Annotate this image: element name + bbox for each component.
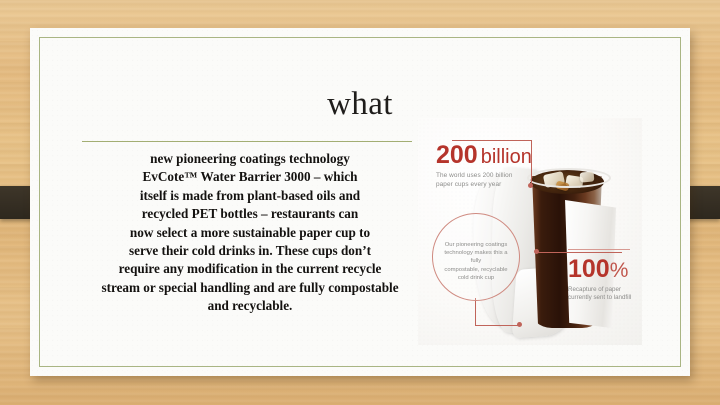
- leader-line-200-vertical: [531, 140, 532, 186]
- leader-dot-callout: [517, 322, 522, 327]
- leader-dot-100: [534, 249, 539, 254]
- stat-100-description: Recapture of paper currently sent to lan…: [568, 286, 631, 303]
- stat-100-percent: 100% Recapture of paper currently sent t…: [568, 257, 631, 303]
- stat-200-unit: billion: [481, 147, 532, 167]
- body-divider-rule: [82, 141, 412, 142]
- body-paragraph: new pioneering coatings technology EvCot…: [70, 150, 430, 316]
- cup-rim: [527, 168, 611, 188]
- stat-100-unit: %: [610, 260, 629, 281]
- slide-root: what new pioneering coatings technology …: [0, 0, 720, 405]
- leader-line-callout-horizontal: [475, 325, 520, 326]
- slide-card: what new pioneering coatings technology …: [30, 28, 690, 376]
- leader-line-callout-vertical: [475, 298, 476, 326]
- stat-100-value: 100: [568, 257, 610, 282]
- stat-200-value: 200: [436, 143, 478, 168]
- stat-200-billion: 200billion The world uses 200 billion pa…: [436, 143, 532, 189]
- stat-200-description: The world uses 200 billion paper cups ev…: [436, 172, 532, 189]
- leader-line-100-top: [568, 249, 630, 250]
- leader-dot-200: [528, 183, 533, 188]
- leader-line-100-horizontal: [536, 252, 622, 253]
- callout-circle: Our pioneering coatings technology makes…: [432, 213, 520, 301]
- leader-line-200-horizontal: [452, 140, 532, 141]
- callout-text: Our pioneering coatings technology makes…: [439, 241, 513, 282]
- infographic-image: 200billion The world uses 200 billion pa…: [418, 118, 642, 345]
